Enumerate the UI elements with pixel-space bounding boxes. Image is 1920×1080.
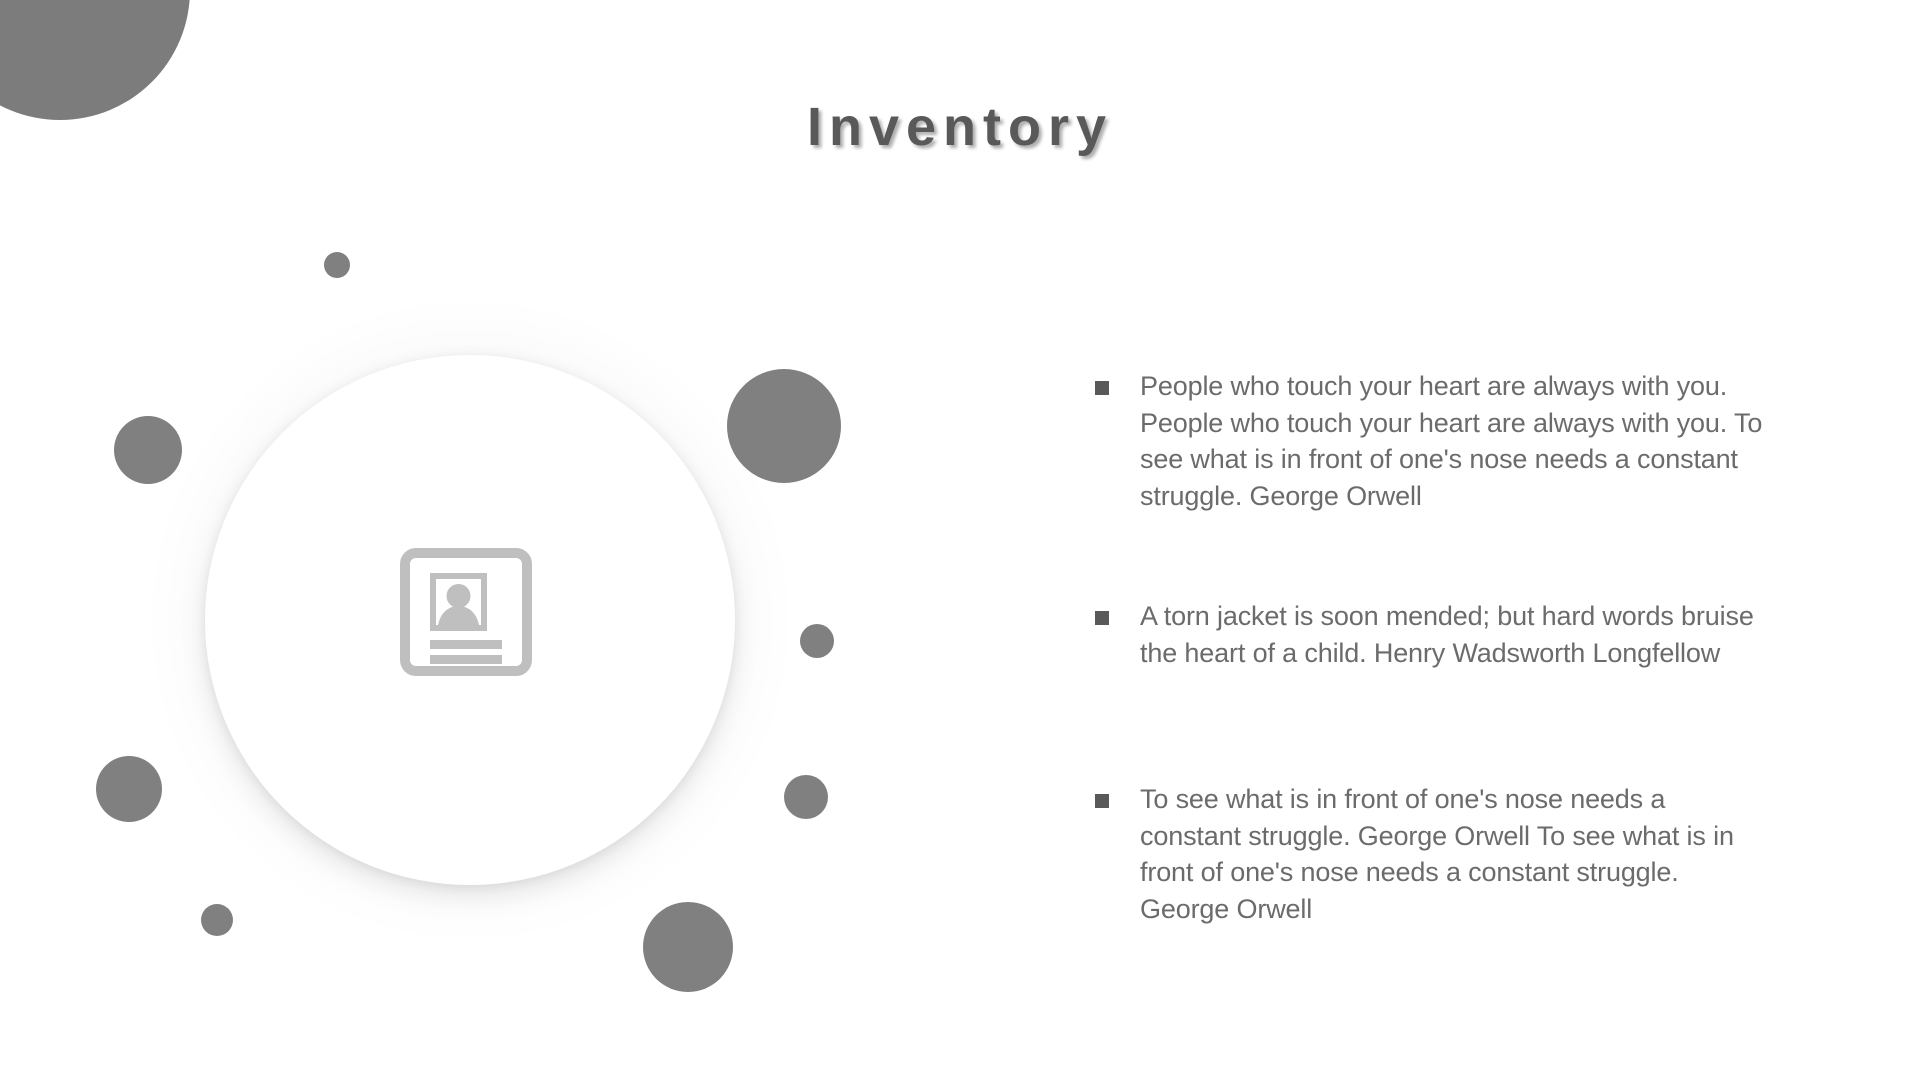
square-bullet-icon — [1095, 381, 1109, 395]
deco-circle-right-lower — [784, 775, 828, 819]
page-title: Inventory — [0, 98, 1920, 157]
id-card-photo-placeholder-icon — [400, 548, 532, 676]
presentation-slide: Inventory People who touch your heart ar… — [0, 0, 1920, 1080]
list-item-text: A torn jacket is soon mended; but hard w… — [1140, 598, 1773, 671]
deco-dot-bottom-left — [201, 904, 233, 936]
deco-circle-left — [114, 416, 182, 484]
square-bullet-icon — [1095, 794, 1109, 808]
square-bullet-icon — [1095, 611, 1109, 625]
list-item: People who touch your heart are always w… — [1093, 368, 1773, 514]
deco-dot-top — [324, 252, 350, 278]
deco-circle-bottom-left — [96, 756, 162, 822]
list-item-text: To see what is in front of one's nose ne… — [1140, 781, 1773, 927]
list-item: To see what is in front of one's nose ne… — [1093, 781, 1773, 927]
bullet-text-column: People who touch your heart are always w… — [1093, 368, 1773, 927]
deco-circle-bottom-center — [643, 902, 733, 992]
deco-dot-right-upper — [800, 624, 834, 658]
list-item-text: People who touch your heart are always w… — [1140, 368, 1773, 514]
list-item: A torn jacket is soon mended; but hard w… — [1093, 598, 1773, 671]
deco-circle-right-large — [727, 369, 841, 483]
